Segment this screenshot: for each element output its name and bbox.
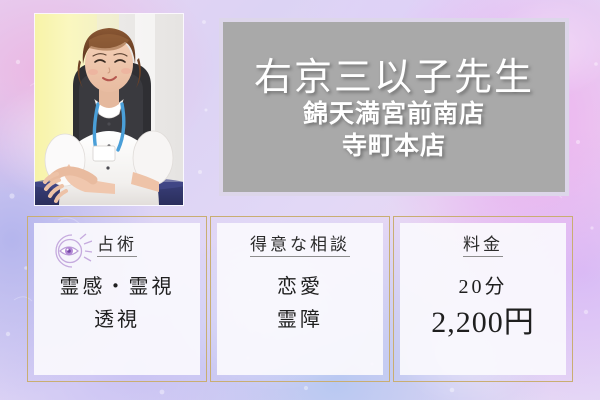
info-card-row: 占術 霊感・霊視 透視 得意な相談 恋愛 霊障 料金 20 — [0, 216, 600, 384]
card-divination-heading: 占術 — [97, 235, 137, 257]
card-price-duration: 20分 — [431, 271, 535, 304]
card-price-amount: 2,200円 — [431, 304, 535, 342]
fortune-teller-photo — [35, 14, 183, 205]
card-price-heading: 料金 — [463, 235, 503, 257]
branch-name-secondary: 寺町本店 — [342, 131, 446, 163]
title-panel: 右京三以子先生 錦天満宮前南店 寺町本店 — [219, 18, 569, 196]
practitioner-name: 右京三以子先生 — [254, 57, 534, 100]
moon-eye-icon — [50, 231, 92, 271]
card-specialty-heading: 得意な相談 — [250, 235, 350, 257]
card-divination-line-2: 透視 — [60, 304, 175, 337]
card-specialty-line-2: 霊障 — [277, 304, 323, 337]
card-specialty: 得意な相談 恋愛 霊障 — [210, 216, 390, 382]
card-specialty-line-1: 恋愛 — [277, 271, 323, 304]
card-price: 料金 20分 2,200円 — [393, 216, 573, 382]
portrait-image — [35, 14, 183, 205]
card-divination: 占術 霊感・霊視 透視 — [27, 216, 207, 382]
promo-card-root: 右京三以子先生 錦天満宮前南店 寺町本店 占術 — [0, 0, 600, 400]
branch-name-primary: 錦天満宮前南店 — [303, 99, 485, 131]
card-divination-line-1: 霊感・霊視 — [60, 271, 175, 304]
